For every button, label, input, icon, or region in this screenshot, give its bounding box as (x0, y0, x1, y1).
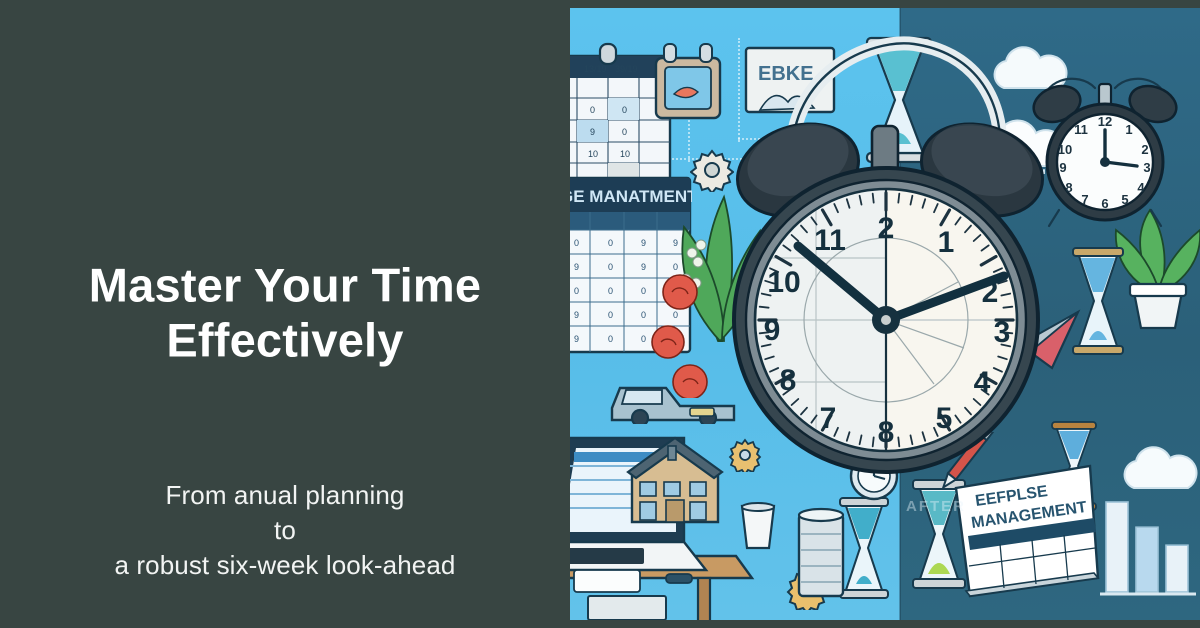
svg-text:13/19: 13/19 (584, 64, 607, 74)
svg-text:10: 10 (620, 149, 630, 159)
svg-text:10: 10 (1058, 142, 1072, 157)
clock-numeral-1: 1 (938, 226, 955, 259)
clock-numeral-5: 5 (936, 402, 953, 435)
house-model-icon (626, 432, 724, 528)
svg-text:0: 0 (608, 310, 613, 320)
paper-calendar-sheet: EEFPLSE MANAGEMENT (948, 460, 1100, 600)
svg-text:9: 9 (574, 262, 579, 272)
svg-text:9: 9 (574, 334, 579, 344)
svg-text:0: 0 (641, 286, 646, 296)
svg-text:0: 0 (574, 238, 579, 248)
svg-text:0: 0 (608, 334, 613, 344)
clock-numeral-8: 8 (780, 364, 797, 397)
svg-text:12: 12 (1098, 114, 1112, 129)
svg-text:7: 7 (1081, 192, 1088, 207)
clock-numeral-7: 7 (820, 402, 837, 435)
svg-text:0: 0 (641, 334, 646, 344)
svg-text:0: 0 (590, 105, 595, 115)
svg-text:1: 1 (1125, 122, 1132, 137)
headline-line-2: Effectively (22, 313, 548, 368)
svg-text:0: 0 (608, 262, 613, 272)
svg-text:9: 9 (1059, 160, 1066, 175)
clock-numeral-4: 4 (974, 366, 991, 399)
svg-text:9: 9 (574, 310, 579, 320)
clock-numeral-3: 3 (994, 316, 1011, 349)
battery-stack-icon (795, 506, 847, 602)
clock-numeral-9: 9 (764, 314, 781, 347)
page-subtitle: From anual planning to a robust six-week… (0, 478, 570, 583)
svg-text:0: 0 (574, 286, 579, 296)
page-title: Master Your Time Effectively (0, 258, 570, 367)
subtitle-line-2: to (28, 513, 542, 548)
clock-numeral-10: 10 (767, 266, 800, 299)
svg-text:0: 0 (608, 286, 613, 296)
bar-chart (1100, 486, 1196, 602)
svg-text:0: 0 (608, 238, 613, 248)
svg-text:9: 9 (641, 262, 646, 272)
svg-text:9: 9 (590, 127, 595, 137)
svg-text:8: 8 (1065, 180, 1072, 195)
svg-text:3: 3 (1143, 160, 1150, 175)
subtitle-line-3: a robust six-week look-ahead (28, 548, 542, 583)
banner: Master Your Time Effectively From anual … (0, 0, 1200, 628)
svg-text:10: 10 (588, 149, 598, 159)
svg-text:0: 0 (622, 105, 627, 115)
svg-text:0: 0 (641, 310, 646, 320)
text-panel: Master Your Time Effectively From anual … (0, 0, 570, 628)
svg-text:9: 9 (641, 238, 646, 248)
framed-picture-icon (652, 42, 724, 124)
clock-numeral-12: 2 (878, 212, 895, 245)
cup-icon (738, 502, 778, 550)
clock-numeral-6: 8 (878, 416, 895, 449)
svg-text:0: 0 (622, 127, 627, 137)
svg-text:5: 5 (1121, 192, 1128, 207)
illustration-panel: 13/1939/19 000 090 01010 GE MANATMENT (570, 0, 1200, 628)
svg-text:11: 11 (1074, 122, 1088, 137)
svg-text:39/19: 39/19 (615, 64, 638, 74)
svg-text:6: 6 (1101, 196, 1108, 211)
time-management-illustration: 13/1939/19 000 090 01010 GE MANATMENT (570, 8, 1200, 620)
svg-text:4: 4 (1137, 180, 1145, 195)
headline-line-1: Master Your Time (22, 258, 548, 313)
svg-text:2: 2 (1141, 142, 1148, 157)
alarm-clock: 2 1 2 3 4 5 8 7 8 9 10 11 (720, 30, 1050, 480)
subtitle-line-1: From anual planning (28, 478, 542, 513)
clock-numeral-11: 11 (814, 224, 846, 257)
